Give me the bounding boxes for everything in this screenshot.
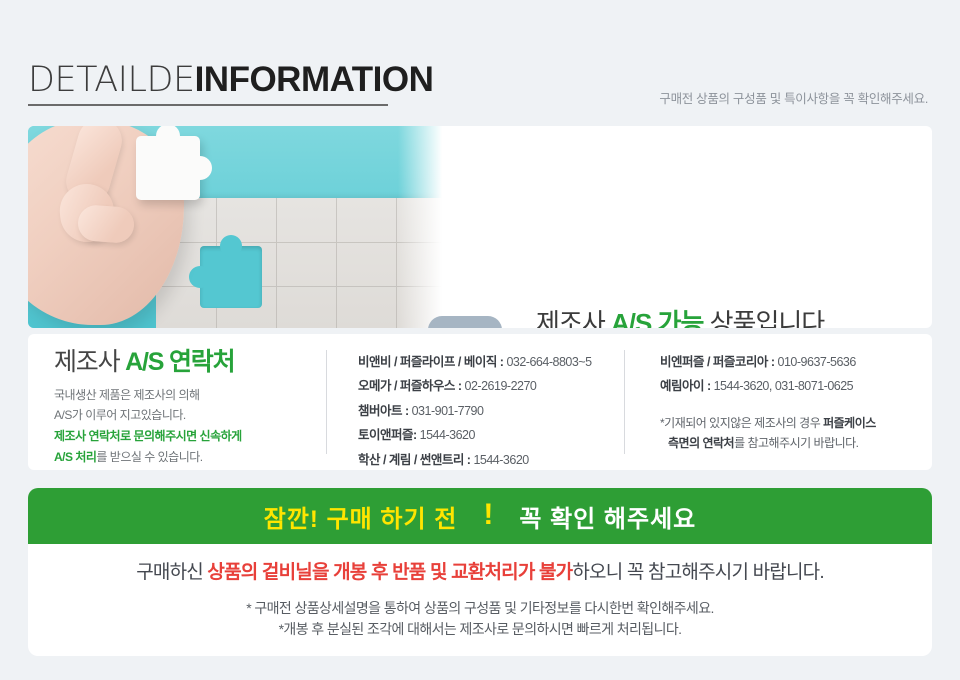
contact-number: 1544-3620: [420, 428, 475, 442]
notice-banner-yellow-text: 잠깐! 구매 하기 전: [264, 499, 458, 534]
contact-footnote-line-1-em: 퍼즐케이스: [823, 416, 876, 430]
page-title-bold: INFORMATION: [195, 60, 434, 99]
contact-number: 1544-3620, 031-8071-0625: [714, 379, 854, 393]
contact-name: 학산 / 계림 / 썬앤트리 :: [358, 453, 473, 467]
contact-intro-block: 제조사 A/S 연락처 국내생산 제품은 제조사의 의해 A/S가 이루어 지고…: [54, 348, 324, 467]
as-availability-card: 제조사 A/S 가능 상품입니다. 각 브랜드 제조사에서 직접 처리를 해드리…: [28, 126, 932, 328]
contact-description-line-4-tail: 를 받으실 수 있습니다.: [96, 450, 202, 464]
contact-name: 예림아이 :: [660, 379, 714, 393]
product-detail-information-page: DETAILDEINFORMATION 구매전 상품의 구성품 및 특이사항을 …: [0, 0, 960, 680]
as-heading-prefix: 제조사: [536, 308, 611, 328]
contact-name: 챔버아트 :: [358, 404, 412, 418]
as-heading-suffix: 상품입니다.: [703, 308, 830, 328]
contact-footnote-line-1-pre: *기재되어 있지않은 제조사의 경우: [660, 416, 823, 430]
page-title-underline: [28, 104, 388, 106]
contact-number: 02-2619-2270: [465, 379, 537, 393]
contact-list-item: 비앤비 / 퍼즐라이프 / 베이직 : 032-664-8803~5: [358, 350, 618, 374]
contact-list-item: 비엔퍼즐 / 퍼즐코리아 : 010-9637-5636: [660, 350, 932, 374]
contact-name: 비앤비 / 퍼즐라이프 / 베이직 :: [358, 355, 506, 369]
notice-banner-white-text: 꼭 확인 해주세요: [519, 499, 696, 534]
contact-description-line-4: A/S 처리를 받으실 수 있습니다.: [54, 447, 324, 468]
contact-name: 비엔퍼즐 / 퍼즐코리아 :: [660, 355, 778, 369]
gears-icon: [428, 316, 502, 328]
contact-list-item: 오메가 / 퍼즐하우스 : 02-2619-2270: [358, 374, 618, 398]
contact-divider-left: [326, 350, 327, 454]
contact-number: 010-9637-5636: [778, 355, 856, 369]
purchase-notice-banner: 잠깐! 구매 하기 전 ! 꼭 확인 해주세요: [28, 488, 932, 544]
contact-title-highlight: A/S 연락처: [125, 348, 234, 376]
contact-list-item: 예림아이 : 1544-3620, 031-8071-0625: [660, 374, 932, 398]
contact-footnote-line-2-em: 측면의 연락처: [668, 436, 734, 450]
photo-held-puzzle-piece: [136, 136, 200, 200]
notice-banner-exclamation: !: [483, 500, 493, 530]
page-title-thin: DETAILDE: [28, 60, 195, 100]
manufacturer-contact-card: 제조사 A/S 연락처 국내생산 제품은 제조사의 의해 A/S가 이루어 지고…: [28, 334, 932, 470]
notice-line-1-red: 상품의 겉비닐을 개봉 후 반품 및 교환처리가 불가: [207, 562, 572, 583]
contact-description-line-4-em: A/S 처리: [54, 450, 96, 464]
photo-right-fade: [398, 126, 446, 328]
contact-description-line-3: 제조사 연락처로 문의해주시면 신속하게: [54, 426, 324, 447]
contact-title: 제조사 A/S 연락처: [54, 348, 324, 377]
as-text-block: 제조사 A/S 가능 상품입니다. 각 브랜드 제조사에서 직접 처리를 해드리…: [536, 308, 932, 328]
contact-description-line-1: 국내생산 제품은 제조사의 의해: [54, 385, 324, 406]
notice-line-1: 구매하신 상품의 겉비닐을 개봉 후 반품 및 교환처리가 불가하오니 꼭 참고…: [28, 560, 932, 587]
contact-description-line-2: A/S가 이루어 지고있습니다.: [54, 405, 324, 426]
contact-number: 032-664-8803~5: [506, 355, 591, 369]
contact-list-item: 학산 / 계림 / 썬앤트리 : 1544-3620: [358, 448, 618, 472]
contact-list-item: 토이앤퍼즐: 1544-3620: [358, 423, 618, 447]
contact-footnote: *기재되어 있지않은 제조사의 경우 퍼즐케이스 측면의 연락처를 참고해주시기…: [660, 413, 932, 454]
notice-line-1-pre: 구매하신: [136, 562, 207, 583]
contact-description: 국내생산 제품은 제조사의 의해 A/S가 이루어 지고있습니다. 제조사 연락…: [54, 385, 324, 468]
notice-line-2: * 구매전 상품상세설명을 통하여 상품의 구성품 및 기타정보를 다시한번 확…: [28, 598, 932, 620]
header-note: 구매전 상품의 구성품 및 특이사항을 꼭 확인해주세요.: [659, 88, 928, 107]
contact-list-item: 챔버아트 : 031-901-7790: [358, 399, 618, 423]
notice-line-1-post: 하오니 꼭 참고해주시기 바랍니다.: [572, 562, 823, 583]
purchase-notice-body: 구매하신 상품의 겉비닐을 개봉 후 반품 및 교환처리가 불가하오니 꼭 참고…: [28, 544, 932, 656]
as-heading-highlight: A/S 가능: [611, 308, 703, 328]
puzzle-photo: [28, 126, 446, 328]
contact-name: 토이앤퍼즐:: [358, 428, 420, 442]
page-header: DETAILDEINFORMATION 구매전 상품의 구성품 및 특이사항을 …: [0, 0, 960, 120]
contact-list-middle: 비앤비 / 퍼즐라이프 / 베이직 : 032-664-8803~5 오메가 /…: [358, 350, 618, 472]
contact-number: 031-901-7790: [412, 404, 484, 418]
page-title: DETAILDEINFORMATION: [28, 62, 433, 98]
photo-missing-piece-slot: [200, 246, 262, 308]
contact-footnote-line-1: *기재되어 있지않은 제조사의 경우 퍼즐케이스: [660, 413, 932, 433]
contact-name: 오메가 / 퍼즐하우스 :: [358, 379, 465, 393]
contact-number: 1544-3620: [473, 453, 528, 467]
photo-finger: [77, 204, 135, 244]
contact-divider-right: [624, 350, 625, 454]
notice-line-3: *개봉 후 분실된 조각에 대해서는 제조사로 문의하시면 빠르게 처리됩니다.: [28, 619, 932, 641]
as-heading: 제조사 A/S 가능 상품입니다.: [536, 308, 932, 328]
contact-title-prefix: 제조사: [54, 348, 125, 376]
contact-footnote-line-2-tail: 를 참고해주시기 바랍니다.: [734, 436, 858, 450]
contact-list-right: 비엔퍼즐 / 퍼즐코리아 : 010-9637-5636 예림아이 : 1544…: [660, 350, 932, 454]
contact-footnote-line-2: 측면의 연락처를 참고해주시기 바랍니다.: [660, 433, 859, 453]
